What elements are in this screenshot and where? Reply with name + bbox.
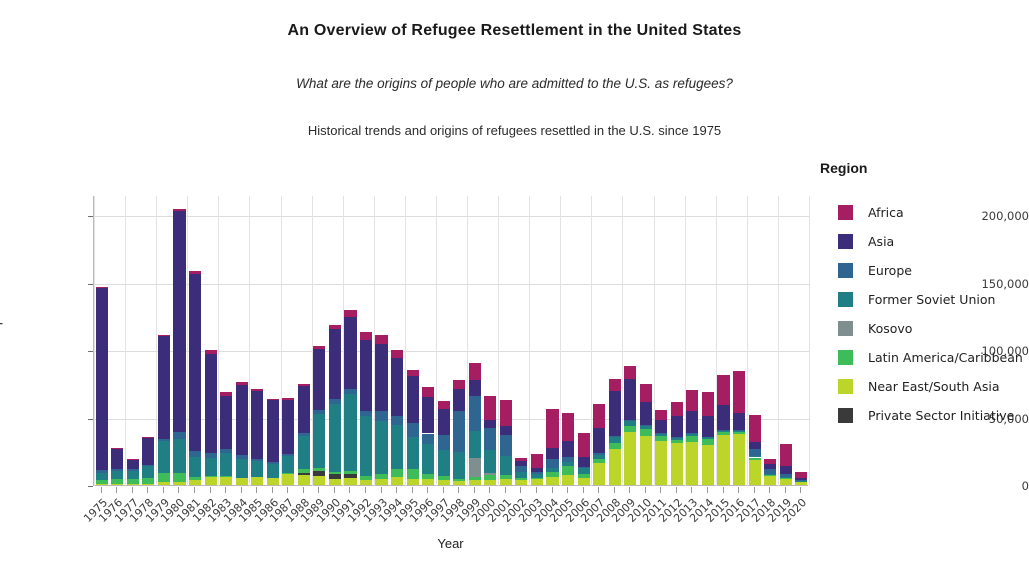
bar-segment[interactable] <box>282 456 294 474</box>
bar-segment[interactable] <box>764 476 776 485</box>
bar-segment[interactable] <box>236 382 248 386</box>
bar-segment[interactable] <box>282 454 294 455</box>
bar-segment[interactable] <box>375 474 387 479</box>
bar-segment[interactable] <box>764 469 776 474</box>
x-axis-tick-mark <box>303 487 304 493</box>
bar-segment[interactable] <box>422 387 434 397</box>
bar-segment[interactable] <box>453 481 465 485</box>
bar-segment[interactable] <box>671 437 683 438</box>
bar-segment[interactable] <box>655 441 667 486</box>
bar-segment[interactable] <box>236 385 248 455</box>
bar-segment[interactable] <box>686 411 698 433</box>
bar-segment[interactable] <box>609 443 621 449</box>
bar-segment[interactable] <box>173 432 185 439</box>
bar-segment[interactable] <box>438 401 450 409</box>
bar-segment[interactable] <box>671 438 683 440</box>
bar-segment[interactable] <box>313 410 325 414</box>
bar-segment[interactable] <box>298 469 310 472</box>
bar-segment[interactable] <box>127 459 139 460</box>
bar-segment[interactable] <box>360 416 372 477</box>
bar-segment[interactable] <box>624 421 636 426</box>
bar-segment[interactable] <box>391 477 403 485</box>
bar-segment[interactable] <box>795 472 807 478</box>
bar-segment[interactable] <box>127 459 139 469</box>
bar-segment[interactable] <box>360 332 372 340</box>
bar-segment[interactable] <box>562 413 574 441</box>
bar-segment[interactable] <box>484 475 496 479</box>
bar-segment[interactable] <box>205 476 217 477</box>
bar-segment[interactable] <box>173 211 185 432</box>
bar-segment[interactable] <box>546 459 558 468</box>
x-axis-tick-mark <box>800 487 801 493</box>
bar-segment[interactable] <box>407 469 419 479</box>
bar-segment[interactable] <box>344 478 356 485</box>
bar-segment[interactable] <box>329 329 341 398</box>
bar-segment[interactable] <box>96 288 108 470</box>
bar-segment[interactable] <box>267 462 279 464</box>
bar-segment[interactable] <box>640 436 652 485</box>
bar-segment[interactable] <box>593 453 605 454</box>
legend-item[interactable]: Europe <box>820 256 1025 285</box>
bar-segment[interactable] <box>267 400 279 461</box>
bar-segment[interactable] <box>220 476 232 477</box>
bar-segment[interactable] <box>422 434 434 445</box>
bar-segment[interactable] <box>546 477 558 485</box>
bar-segment[interactable] <box>733 413 745 430</box>
bar-segment[interactable] <box>251 391 263 458</box>
bar-segment[interactable] <box>142 437 154 438</box>
bar-segment[interactable] <box>655 410 667 420</box>
legend-item[interactable]: Former Soviet Union <box>820 285 1025 314</box>
bar-segment[interactable] <box>111 448 123 449</box>
bar-segment[interactable] <box>96 287 108 288</box>
bar-segment[interactable] <box>407 479 419 485</box>
bar-segment[interactable] <box>453 411 465 453</box>
bar-segment[interactable] <box>764 464 776 469</box>
bar-segment[interactable] <box>173 209 185 211</box>
bar-segment[interactable] <box>515 458 527 461</box>
bar-segment[interactable] <box>205 350 217 354</box>
bar-segment[interactable] <box>313 476 325 485</box>
bar-segment[interactable] <box>655 436 667 440</box>
bar-segment[interactable] <box>360 476 372 479</box>
bar-segment[interactable] <box>733 371 745 414</box>
bar-segment[interactable] <box>407 423 419 436</box>
bar-segment[interactable] <box>624 432 636 485</box>
bar-segment[interactable] <box>453 389 465 410</box>
bar-segment[interactable] <box>111 469 123 471</box>
bar-segment[interactable] <box>733 434 745 485</box>
bar-segment[interactable] <box>624 366 636 379</box>
bar-segment[interactable] <box>298 475 310 485</box>
bar-segment[interactable] <box>531 479 543 485</box>
bar-segment[interactable] <box>515 466 527 472</box>
x-axis-tick-mark <box>225 487 226 493</box>
bar-segment[interactable] <box>391 469 403 477</box>
bar-segment[interactable] <box>422 397 434 433</box>
x-axis-tick-mark <box>287 487 288 493</box>
bar-segment[interactable] <box>795 478 807 480</box>
bar-segment[interactable] <box>344 310 356 316</box>
bar-segment[interactable] <box>127 471 139 480</box>
bar-segment[interactable] <box>251 459 263 461</box>
bar-segment[interactable] <box>173 482 185 485</box>
bar-segment[interactable] <box>220 396 232 449</box>
bar-segment[interactable] <box>655 420 667 433</box>
bar-segment[interactable] <box>205 354 217 453</box>
bar-segment[interactable] <box>313 349 325 410</box>
x-axis-tick-mark <box>427 487 428 493</box>
bar-segment[interactable] <box>717 430 729 432</box>
bar-segment[interactable] <box>469 363 481 381</box>
bar-segment[interactable] <box>469 396 481 430</box>
bar-segment[interactable] <box>469 477 481 480</box>
bar-segment[interactable] <box>609 379 621 391</box>
bar-segment[interactable] <box>671 416 683 437</box>
bar-segment[interactable] <box>298 433 310 436</box>
legend-item[interactable]: Africa <box>820 198 1025 227</box>
bar-segment[interactable] <box>329 325 341 330</box>
bar-segment[interactable] <box>313 468 325 472</box>
bar-segment[interactable] <box>500 456 512 476</box>
bar-segment[interactable] <box>360 411 372 416</box>
bar-segment[interactable] <box>142 465 154 466</box>
bar-segment[interactable] <box>484 420 496 428</box>
bar-segment[interactable] <box>173 439 185 473</box>
bar-segment[interactable] <box>438 476 450 480</box>
bar-segment[interactable] <box>733 430 745 431</box>
bar-segment[interactable] <box>313 414 325 468</box>
bar-segment[interactable] <box>329 472 341 475</box>
bar-segment[interactable] <box>453 479 465 481</box>
bar-segment[interactable] <box>515 461 527 466</box>
bar-segment[interactable] <box>127 479 139 484</box>
bar-segment[interactable] <box>624 426 636 432</box>
bar-segment[interactable] <box>562 462 574 466</box>
bar-segment[interactable] <box>500 479 512 485</box>
bar-segment[interactable] <box>702 439 714 445</box>
bar-segment[interactable] <box>407 370 419 376</box>
bar-segment[interactable] <box>205 458 217 475</box>
bar-segment[interactable] <box>780 479 792 485</box>
bar-segment[interactable] <box>795 482 807 485</box>
bar-segment[interactable] <box>578 433 590 458</box>
bar-segment[interactable] <box>780 478 792 479</box>
legend-item[interactable]: Private Sector Initiative <box>820 401 1025 430</box>
bar-segment[interactable] <box>220 453 232 476</box>
bar-segment[interactable] <box>795 480 807 481</box>
bar-segment[interactable] <box>189 274 201 451</box>
bar-segment[interactable] <box>469 431 481 458</box>
bar-segment[interactable] <box>702 392 714 416</box>
bar-segment[interactable] <box>484 396 496 420</box>
bar-segment[interactable] <box>189 477 201 480</box>
bar-segment[interactable] <box>484 428 496 450</box>
bar-segment[interactable] <box>158 335 170 336</box>
bar-segment[interactable] <box>484 450 496 473</box>
bar-segment[interactable] <box>391 350 403 358</box>
bar-segment[interactable] <box>500 475 512 479</box>
bar-segment[interactable] <box>375 421 387 474</box>
bar-segment[interactable] <box>546 448 558 459</box>
bar-segment[interactable] <box>251 461 263 477</box>
bar-segment[interactable] <box>484 473 496 476</box>
bar-segment[interactable] <box>344 317 356 389</box>
bar-segment[interactable] <box>391 358 403 416</box>
x-axis-tick-mark <box>707 487 708 493</box>
bar-segment[interactable] <box>686 434 698 436</box>
bar-segment[interactable] <box>469 380 481 396</box>
bar-segment[interactable] <box>236 478 248 485</box>
bar-segment[interactable] <box>96 480 108 484</box>
bar-segment[interactable] <box>407 437 419 469</box>
bar-segment[interactable] <box>407 376 419 423</box>
bar-segment[interactable] <box>702 437 714 438</box>
bar-segment[interactable] <box>189 480 201 485</box>
bar-segment[interactable] <box>515 480 527 485</box>
bar-segment[interactable] <box>438 450 450 476</box>
bar-segment[interactable] <box>546 409 558 448</box>
bar-segment[interactable] <box>578 467 590 469</box>
bar-segment[interactable] <box>593 404 605 428</box>
bar-segment[interactable] <box>515 472 527 478</box>
bar-segment[interactable] <box>298 436 310 470</box>
bar-segment[interactable] <box>344 394 356 471</box>
gridline-vertical <box>591 196 592 486</box>
bar-segment[interactable] <box>702 436 714 437</box>
bar-segment[interactable] <box>375 344 387 411</box>
bar-segment[interactable] <box>749 449 761 456</box>
bar-segment[interactable] <box>344 474 356 478</box>
bar-segment[interactable] <box>267 464 279 478</box>
bar-segment[interactable] <box>282 474 294 485</box>
bar-segment[interactable] <box>438 480 450 485</box>
bar-segment[interactable] <box>313 346 325 349</box>
bar-segment[interactable] <box>438 409 450 435</box>
bar-segment[interactable] <box>780 477 792 478</box>
bar-segment[interactable] <box>764 475 776 476</box>
bar-segment[interactable] <box>546 472 558 477</box>
bar-segment[interactable] <box>469 480 481 485</box>
bar-segment[interactable] <box>375 479 387 485</box>
bar-segment[interactable] <box>236 455 248 459</box>
bar-segment[interactable] <box>96 484 108 485</box>
y-axis-tick-mark <box>88 486 93 487</box>
bar-segment[interactable] <box>298 384 310 386</box>
bar-segment[interactable] <box>578 474 590 478</box>
bar-segment[interactable] <box>500 435 512 456</box>
bar-segment[interactable] <box>158 336 170 439</box>
bar-segment[interactable] <box>298 473 310 476</box>
bar-segment[interactable] <box>391 416 403 425</box>
bar-segment[interactable] <box>189 451 201 457</box>
bar-segment[interactable] <box>205 476 217 485</box>
bar-segment[interactable] <box>189 457 201 477</box>
bar-segment[interactable] <box>142 478 154 484</box>
bar-segment[interactable] <box>469 458 481 477</box>
bar-segment[interactable] <box>655 434 667 437</box>
bar-segment[interactable] <box>158 482 170 485</box>
bar-segment[interactable] <box>111 448 123 469</box>
legend-item[interactable]: Near East/South Asia <box>820 372 1025 401</box>
bar-segment[interactable] <box>780 444 792 466</box>
bar-segment[interactable] <box>344 389 356 395</box>
bar-segment[interactable] <box>609 449 621 485</box>
bar-segment[interactable] <box>640 384 652 402</box>
bar-segment[interactable] <box>609 437 621 443</box>
bar-segment[interactable] <box>749 460 761 485</box>
bar-segment[interactable] <box>671 440 683 443</box>
bar-segment[interactable] <box>640 425 652 426</box>
bar-segment[interactable] <box>360 340 372 411</box>
bar-segment[interactable] <box>220 392 232 396</box>
bar-segment[interactable] <box>127 469 139 471</box>
bar-segment[interactable] <box>329 399 341 405</box>
gridline-vertical <box>809 196 810 486</box>
bar-segment[interactable] <box>96 470 108 473</box>
bar-segment[interactable] <box>640 402 652 425</box>
bar-segment[interactable] <box>251 389 263 392</box>
bar-segment[interactable] <box>251 477 263 485</box>
bar-segment[interactable] <box>484 480 496 485</box>
bar-segment[interactable] <box>546 468 558 473</box>
y-axis-tick-label: 0 <box>943 479 1029 493</box>
bar-segment[interactable] <box>609 391 621 436</box>
bar-segment[interactable] <box>158 473 170 482</box>
bar-segment[interactable] <box>375 335 387 344</box>
bar-segment[interactable] <box>531 454 543 468</box>
bar-segment[interactable] <box>593 428 605 454</box>
bar-segment[interactable] <box>686 436 698 442</box>
bar-segment[interactable] <box>609 436 621 437</box>
bar-segment[interactable] <box>593 455 605 460</box>
bar-segment[interactable] <box>624 420 636 421</box>
bar-segment[interactable] <box>360 480 372 485</box>
bar-segment[interactable] <box>531 472 543 473</box>
legend-title: Region <box>820 160 1025 176</box>
bar-segment[interactable] <box>749 415 761 442</box>
bar-segment[interactable] <box>422 479 434 485</box>
bar-segment[interactable] <box>749 458 761 460</box>
legend-item[interactable]: Asia <box>820 227 1025 256</box>
bar-segment[interactable] <box>780 474 792 476</box>
bar-segment[interactable] <box>329 404 341 472</box>
bar-segment[interactable] <box>749 442 761 449</box>
bar-segment[interactable] <box>111 479 123 484</box>
bar-segment[interactable] <box>749 456 761 457</box>
bar-segment[interactable] <box>329 474 341 478</box>
bar-segment[interactable] <box>764 474 776 475</box>
bar-segment[interactable] <box>686 390 698 411</box>
x-axis-tick-mark <box>567 487 568 493</box>
bar-segment[interactable] <box>500 400 512 426</box>
bar-segment[interactable] <box>640 429 652 436</box>
bar-segment[interactable] <box>220 449 232 453</box>
bar-segment[interactable] <box>717 435 729 485</box>
bar-segment[interactable] <box>391 425 403 469</box>
bar-segment[interactable] <box>142 437 154 465</box>
bar-segment[interactable] <box>96 473 108 480</box>
bar-segment[interactable] <box>375 411 387 421</box>
gridline-horizontal <box>94 351 809 352</box>
bar-segment[interactable] <box>702 416 714 437</box>
bar-segment[interactable] <box>236 459 248 477</box>
bar-segment[interactable] <box>764 459 776 464</box>
bar-segment[interactable] <box>578 478 590 485</box>
bar-segment[interactable] <box>593 463 605 485</box>
bar-segment[interactable] <box>173 473 185 482</box>
bar-segment[interactable] <box>717 375 729 405</box>
bar-segment[interactable] <box>453 380 465 389</box>
bar-segment[interactable] <box>686 433 698 434</box>
bar-segment[interactable] <box>624 379 636 419</box>
x-axis-tick-mark <box>614 487 615 493</box>
bar-segment[interactable] <box>282 400 294 454</box>
bar-segment[interactable] <box>142 466 154 478</box>
legend-item-label: Former Soviet Union <box>868 292 995 307</box>
bar-segment[interactable] <box>298 386 310 433</box>
bar-segment[interactable] <box>531 468 543 472</box>
bar-segment[interactable] <box>438 435 450 450</box>
bar-segment[interactable] <box>205 453 217 458</box>
bar-segment[interactable] <box>640 426 652 430</box>
bar-segment[interactable] <box>453 452 465 479</box>
legend-item[interactable]: Latin America/Caribbean <box>820 343 1025 372</box>
bar-segment[interactable] <box>671 402 683 416</box>
bar-segment[interactable] <box>158 439 170 441</box>
x-axis-tick-mark <box>458 487 459 493</box>
bar-segment[interactable] <box>562 457 574 462</box>
bar-segment[interactable] <box>329 479 341 485</box>
bar-segment[interactable] <box>717 432 729 435</box>
bar-segment[interactable] <box>593 459 605 463</box>
bar-segment[interactable] <box>111 471 123 479</box>
bar-segment[interactable] <box>500 426 512 436</box>
bar-segment[interactable] <box>422 474 434 479</box>
bar-segment[interactable] <box>702 445 714 485</box>
bar-segment[interactable] <box>282 398 294 400</box>
bar-segment[interactable] <box>686 442 698 485</box>
legend-item[interactable]: Kosovo <box>820 314 1025 343</box>
bar-segment[interactable] <box>578 468 590 473</box>
bar-segment[interactable] <box>562 475 574 485</box>
bar-segment[interactable] <box>111 484 123 485</box>
bar-segment[interactable] <box>313 471 325 476</box>
bar-segment[interactable] <box>578 457 590 466</box>
bar-segment[interactable] <box>671 443 683 485</box>
bar-segment[interactable] <box>655 433 667 434</box>
bar-segment[interactable] <box>515 478 527 480</box>
legend: Region AfricaAsiaEuropeFormer Soviet Uni… <box>820 160 1025 430</box>
bar-segment[interactable] <box>344 471 356 474</box>
bar-segment[interactable] <box>562 441 574 457</box>
bar-segment[interactable] <box>733 431 745 433</box>
bar-segment[interactable] <box>158 441 170 473</box>
bar-segment[interactable] <box>717 405 729 430</box>
x-axis-tick-mark <box>505 487 506 493</box>
bar-segment[interactable] <box>780 466 792 474</box>
bar-segment[interactable] <box>531 474 543 478</box>
x-axis-tick-mark <box>738 487 739 493</box>
bar-segment[interactable] <box>142 484 154 485</box>
bar-segment[interactable] <box>422 444 434 474</box>
bar-segment[interactable] <box>267 399 279 401</box>
bar-segment[interactable] <box>733 432 745 434</box>
bar-segment[interactable] <box>562 466 574 475</box>
bar-segment[interactable] <box>189 271 201 274</box>
bar-segment[interactable] <box>267 478 279 485</box>
bar-segment[interactable] <box>220 477 232 485</box>
